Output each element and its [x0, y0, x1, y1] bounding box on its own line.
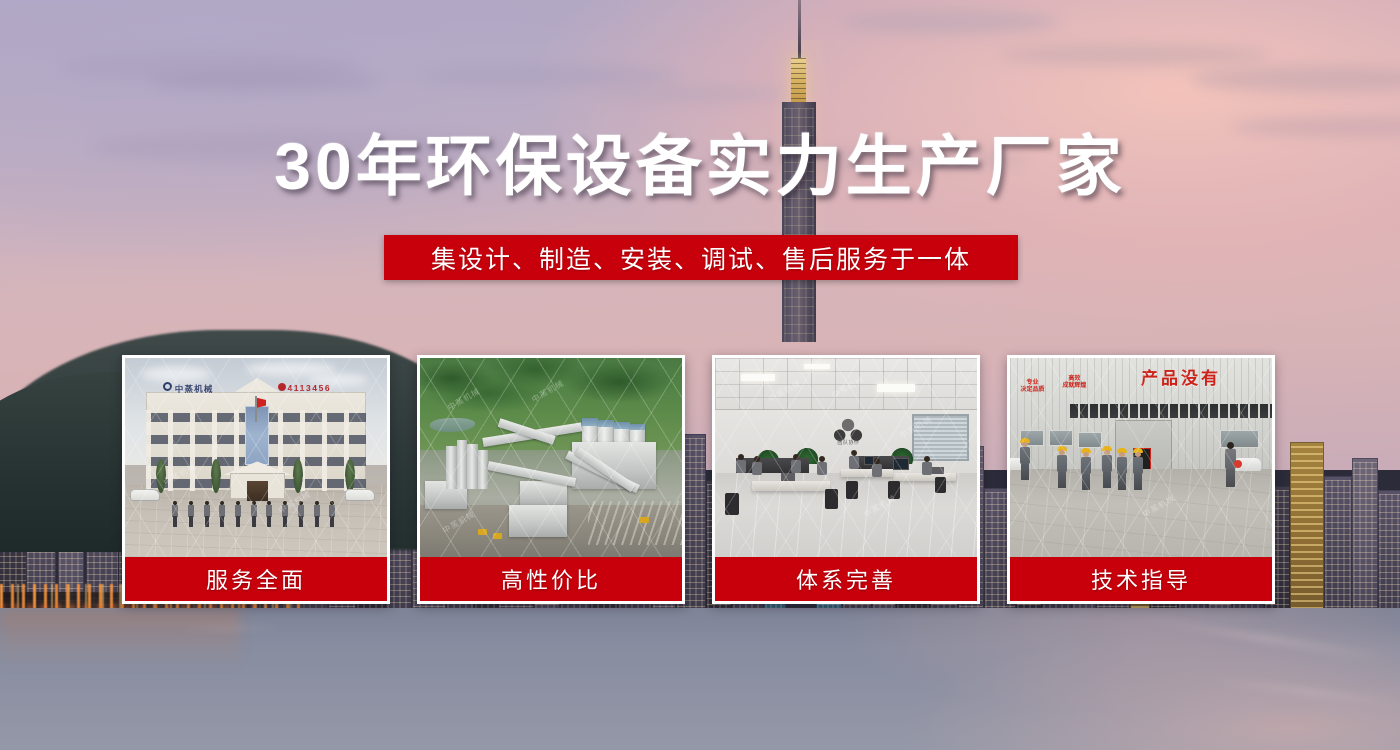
tower-lit-crown: [791, 58, 806, 104]
card-caption: 高性价比: [420, 557, 682, 601]
water-streak: [170, 626, 290, 630]
card-caption: 服务全面: [125, 557, 387, 601]
building-sign-text: 中蒸机械: [175, 383, 214, 395]
subtitle-bar: 集设计、制造、安装、调试、售后服务于一体: [384, 235, 1018, 280]
card-caption: 体系完善: [715, 557, 977, 601]
wall-decal: 团队协作: [822, 416, 874, 446]
cloud: [1000, 44, 1270, 66]
feature-card[interactable]: 中蒸机械 4113456: [122, 355, 390, 604]
cloud: [1190, 66, 1400, 92]
factory-slogan-line: 成就辉煌: [1062, 383, 1086, 391]
feature-card[interactable]: 产品没有 专业 决定品质 高效 成就辉煌: [1007, 355, 1275, 604]
company-building-photo: 中蒸机械 4113456: [125, 358, 387, 557]
workers-factory-photo: 产品没有 专业 决定品质 高效 成就辉煌: [1010, 358, 1272, 557]
feature-card[interactable]: 团队协作: [712, 355, 980, 604]
wall-decal-text: 团队协作: [822, 439, 874, 446]
office-interior-photo: 团队协作: [715, 358, 977, 557]
factory-wall-text: 产品没有: [1141, 364, 1221, 389]
page-title: 30年环保设备实力生产厂家: [0, 133, 1400, 199]
building-phone-text: 4113456: [287, 383, 331, 393]
feature-card[interactable]: 中蒸机械 中蒸机械 中蒸机械 高性价比: [417, 355, 685, 604]
water-reflection: [0, 608, 240, 678]
cloud: [840, 10, 1060, 34]
factory-slogan-line: 决定品质: [1020, 387, 1044, 395]
tower-spire: [798, 0, 801, 60]
cloud: [600, 86, 790, 102]
subtitle-text: 集设计、制造、安装、调试、售后服务于一体: [431, 240, 971, 276]
window-blinds: [912, 414, 970, 462]
aerial-plant-photo: 中蒸机械 中蒸机械 中蒸机械: [420, 358, 682, 557]
hero-banner: 30年环保设备实力生产厂家 集设计、制造、安装、调试、售后服务于一体: [0, 0, 1400, 750]
cloud: [420, 66, 680, 86]
card-caption: 技术指导: [1010, 557, 1272, 601]
cloud: [150, 70, 380, 92]
feature-card-row: 中蒸机械 4113456: [122, 355, 1278, 604]
